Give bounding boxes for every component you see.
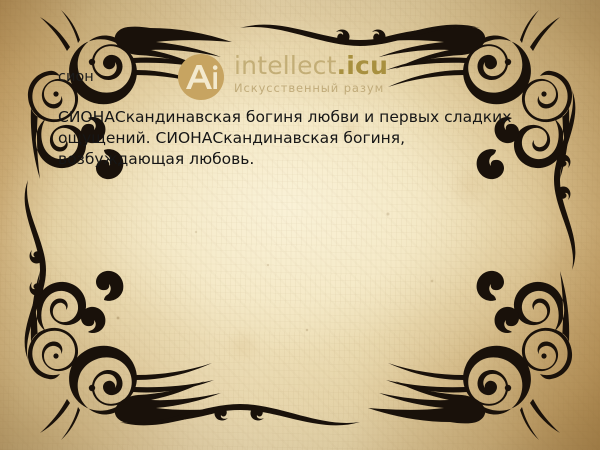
- article-headword: сион: [58, 68, 538, 86]
- parchment-page: intellect.icu Искусственный разум сион С…: [0, 0, 600, 450]
- article-content: сион СИОНАСкандинавская богиня любви и п…: [58, 68, 538, 170]
- article-body: СИОНАСкандинавская богиня любви и первых…: [58, 107, 528, 170]
